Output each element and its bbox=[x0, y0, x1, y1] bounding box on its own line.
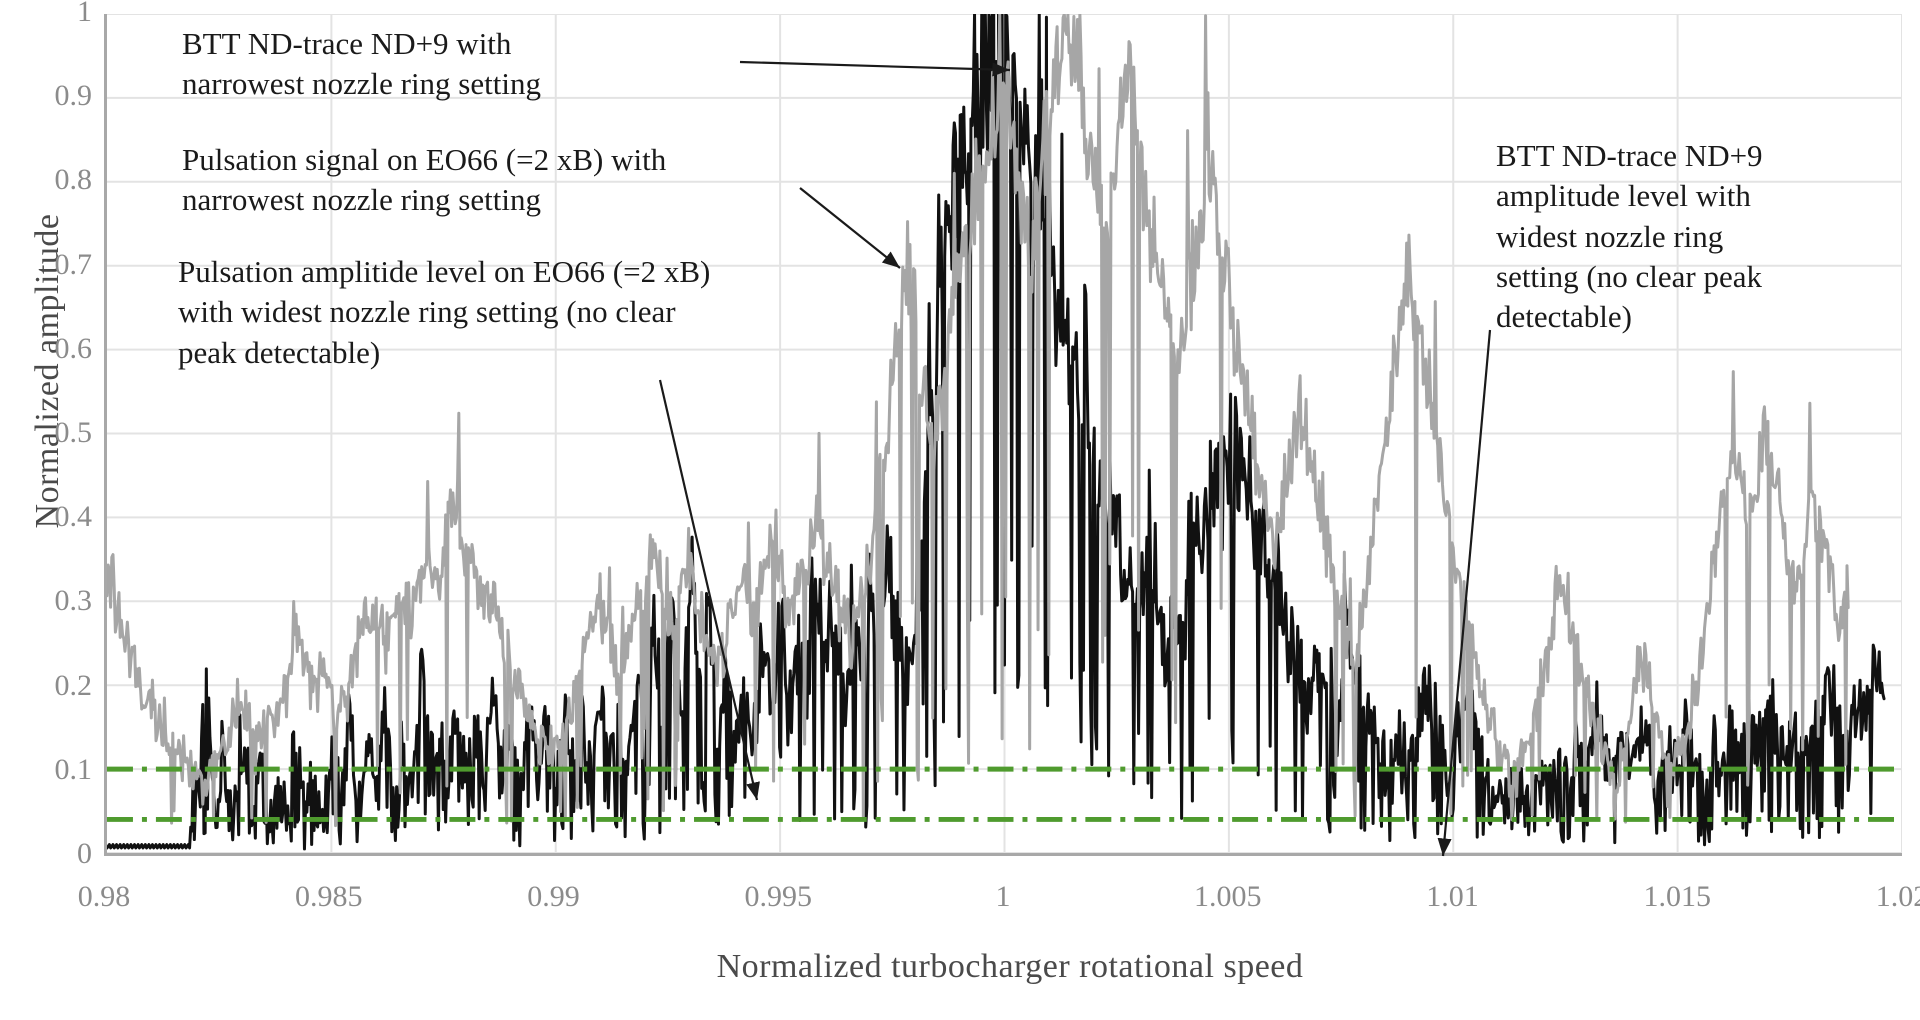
x-tick-label: 0.98 bbox=[24, 880, 184, 914]
y-tick-label: 0.8 bbox=[0, 163, 92, 197]
y-tick-label: 0.9 bbox=[0, 79, 92, 113]
x-tick-label: 0.99 bbox=[474, 880, 634, 914]
y-tick-label: 0.4 bbox=[0, 500, 92, 534]
x-tick-label: 1 bbox=[923, 880, 1083, 914]
y-tick-label: 1 bbox=[0, 0, 92, 29]
annotation-pulsation-narrowest: Pulsation signal on EO66 (=2 xB) with na… bbox=[182, 140, 882, 221]
y-tick-label: 0.7 bbox=[0, 248, 92, 282]
annotation-btt-narrowest: BTT ND-trace ND+9 with narrowest nozzle … bbox=[182, 24, 742, 105]
annotation-pulsation-widest: Pulsation amplitide level on EO66 (=2 xB… bbox=[178, 252, 918, 373]
x-tick-label: 0.985 bbox=[249, 880, 409, 914]
x-tick-label: 1.005 bbox=[1148, 880, 1308, 914]
y-tick-label: 0.5 bbox=[0, 416, 92, 450]
x-tick-label: 0.995 bbox=[698, 880, 858, 914]
x-axis-title: Normalized turbocharger rotational speed bbox=[120, 948, 1900, 986]
y-tick-label: 0.6 bbox=[0, 332, 92, 366]
y-tick-label: 0.1 bbox=[0, 753, 92, 787]
x-tick-label: 1.015 bbox=[1597, 880, 1757, 914]
y-tick-label: 0 bbox=[0, 837, 92, 871]
x-tick-label: 1.02 bbox=[1822, 880, 1920, 914]
x-tick-label: 1.01 bbox=[1373, 880, 1533, 914]
chart-figure: Normalized amplitude 00.10.20.30.40.50.6… bbox=[0, 0, 1920, 1020]
annotation-btt-widest: BTT ND-trace ND+9 amplitude level with w… bbox=[1496, 136, 1866, 337]
y-tick-label: 0.3 bbox=[0, 584, 92, 618]
y-tick-label: 0.2 bbox=[0, 669, 92, 703]
